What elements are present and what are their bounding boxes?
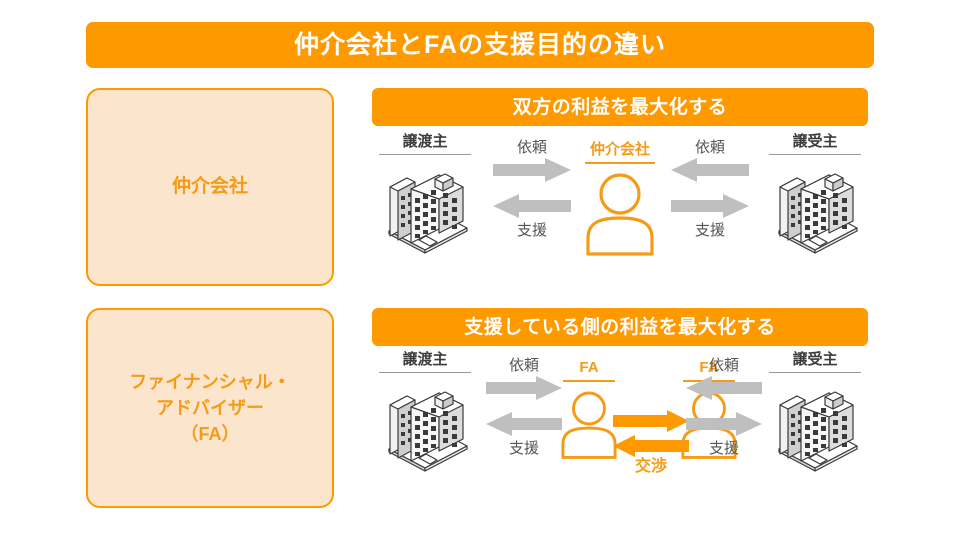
party-transferor: 譲渡主 (372, 134, 478, 257)
arrow-pair-right-fa: 依頼 支援 (678, 358, 770, 458)
person-icon (582, 170, 658, 256)
party-underline (769, 154, 861, 155)
arrow-right-icon (686, 411, 762, 437)
person-icon (558, 388, 620, 460)
actor-name: 仲介会社 (572, 142, 668, 157)
flow-diagram-brokerage: 譲渡主 (372, 134, 868, 292)
page-title: 仲介会社とFAの支援目的の違い (294, 33, 666, 58)
arrow-right-icon (493, 157, 571, 183)
page-title-banner: 仲介会社とFAの支援目的の違い (86, 22, 874, 68)
actor-brokerage: 仲介会社 (572, 142, 668, 256)
section-banner-fa: 支援している側の利益を最大化する (372, 308, 868, 346)
party-name: 譲渡主 (372, 352, 478, 367)
arrow-label-request: 依頼 (486, 140, 578, 157)
building-icon (375, 157, 475, 257)
arrow-label-support: 支援 (664, 223, 756, 240)
actor-name: FA (552, 360, 626, 375)
party-underline (769, 372, 861, 373)
arrow-pair-left-brokerage: 依頼 支援 (486, 140, 578, 240)
building-icon (765, 157, 865, 257)
party-transferee: 譲受主 (762, 352, 868, 475)
flow-diagram-fa: 譲渡主 (372, 352, 868, 518)
section-banner-brokerage: 双方の利益を最大化する (372, 88, 868, 126)
arrow-left-icon (686, 375, 762, 401)
negotiation-label: 交渉 (612, 459, 690, 475)
arrow-label-support: 支援 (486, 223, 578, 240)
arrow-label-support: 支援 (678, 441, 770, 458)
arrow-right-icon (486, 375, 562, 401)
actor-underline (563, 380, 615, 382)
party-transferee: 譲受主 (762, 134, 868, 257)
category-box-fa: ファイナンシャル・ アドバイザー （FA） (86, 308, 334, 508)
arrow-pair-right-brokerage: 依頼 支援 (664, 140, 756, 240)
party-name: 譲受主 (762, 352, 868, 367)
actor-underline (585, 162, 655, 164)
category-box-brokerage: 仲介会社 (86, 88, 334, 286)
category-label: ファイナンシャル・ アドバイザー （FA） (129, 369, 291, 447)
arrow-left-icon (493, 193, 571, 219)
arrow-label-request: 依頼 (678, 358, 770, 375)
party-name: 譲渡主 (372, 134, 478, 149)
party-transferor: 譲渡主 (372, 352, 478, 475)
category-label: 仲介会社 (172, 173, 248, 201)
arrow-left-icon (671, 157, 749, 183)
building-icon (375, 375, 475, 475)
party-underline (379, 372, 471, 373)
section-banner-label: 支援している側の利益を最大化する (464, 318, 775, 337)
party-name: 譲受主 (762, 134, 868, 149)
building-icon (765, 375, 865, 475)
arrow-left-icon (486, 411, 562, 437)
party-underline (379, 154, 471, 155)
arrow-right-icon (671, 193, 749, 219)
section-banner-label: 双方の利益を最大化する (513, 98, 728, 117)
arrow-label-request: 依頼 (664, 140, 756, 157)
